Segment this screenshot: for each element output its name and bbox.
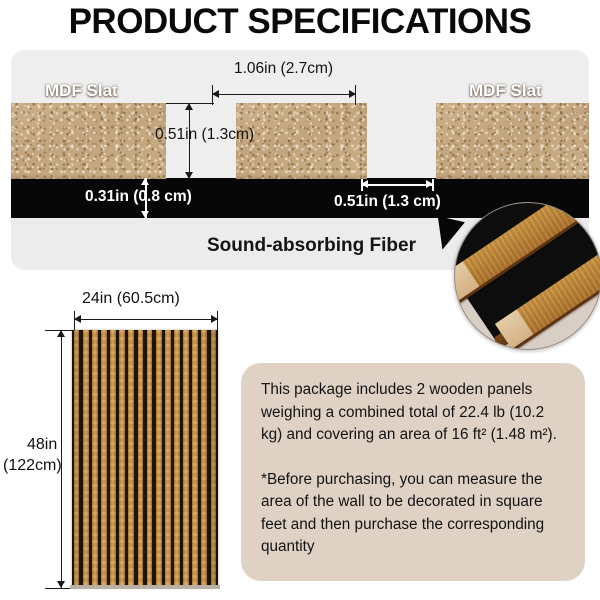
dimension-arrow-slat-width-right (349, 90, 356, 98)
panel-slat (183, 330, 189, 588)
dimension-arrow-slat-gap-right (426, 180, 433, 188)
mdf-slat-right (436, 103, 589, 179)
wood-slat-panel (72, 330, 218, 588)
closeup-content (455, 203, 600, 349)
dimension-line-slat-width (212, 94, 356, 95)
panel-height-line (61, 330, 62, 588)
dimension-line-slat-gap (361, 184, 433, 186)
panel-slat (156, 330, 162, 588)
panel-slat (201, 330, 207, 588)
page-title: PRODUCT SPECIFICATIONS (0, 2, 600, 42)
dimension-arrow-slat-height-bottom (185, 172, 193, 179)
panel-slat (147, 330, 153, 588)
panel-height-label-line2: (122cm) (3, 457, 62, 475)
dimension-label-felt-thickness: 0.31in (0.8 cm) (85, 188, 192, 206)
panel-width-line (74, 319, 218, 320)
panel-slat (110, 330, 116, 588)
package-info-box: This package includes 2 wooden panels we… (241, 363, 585, 581)
dimension-arrow-slat-width-left (212, 90, 219, 98)
package-info-paragraph-1: This package includes 2 wooden panels we… (261, 379, 565, 447)
panel-slat (192, 330, 198, 588)
infographic-root: PRODUCT SPECIFICATIONS MDF Slat MDF Slat… (0, 0, 600, 600)
mdf-slat-left (11, 103, 166, 179)
dimension-arrow-felt-thickness-top (141, 178, 149, 185)
panel-slat (101, 330, 107, 588)
mdf-slat-label-right: MDF Slat (469, 81, 542, 101)
panel-slat (119, 330, 125, 588)
dimension-label-slat-height: 0.51in (1.3cm) (155, 126, 254, 144)
mdf-slat-label-left: MDF Slat (45, 81, 118, 101)
panel-slat (92, 330, 98, 588)
dimension-arrow-slat-height-top (185, 103, 193, 110)
panel-slat (211, 330, 217, 588)
panel-width-arrow-right (211, 315, 218, 323)
dimension-label-slat-gap: 0.51in (1.3 cm) (334, 193, 441, 211)
panel-base-shadow (70, 585, 220, 589)
panel-width-arrow-left (74, 315, 81, 323)
dimension-line-slat-height (189, 103, 190, 179)
dimension-label-slat-width: 1.06in (2.7cm) (234, 60, 333, 78)
sound-absorbing-fiber-label: Sound-absorbing Fiber (207, 235, 416, 257)
panel-height-arrow-bottom (57, 581, 65, 588)
panel-slat (128, 330, 134, 588)
slat-detail-closeup-circle (454, 202, 600, 350)
dimension-arrow-slat-gap-left (361, 180, 368, 188)
panel-height-arrow-top (57, 330, 65, 337)
package-info-paragraph-2: *Before purchasing, you can measure the … (261, 469, 565, 559)
panel-height-label-line1: 48in (27, 436, 57, 454)
panel-slat (83, 330, 89, 588)
panel-slat (174, 330, 180, 588)
panel-width-label: 24in (60.5cm) (82, 290, 180, 308)
dimension-arrow-felt-thickness-bottom (141, 211, 149, 218)
panel-slat (138, 330, 144, 588)
mdf-slat-middle (236, 103, 367, 179)
panel-slat (165, 330, 171, 588)
panel-slat (74, 330, 80, 588)
